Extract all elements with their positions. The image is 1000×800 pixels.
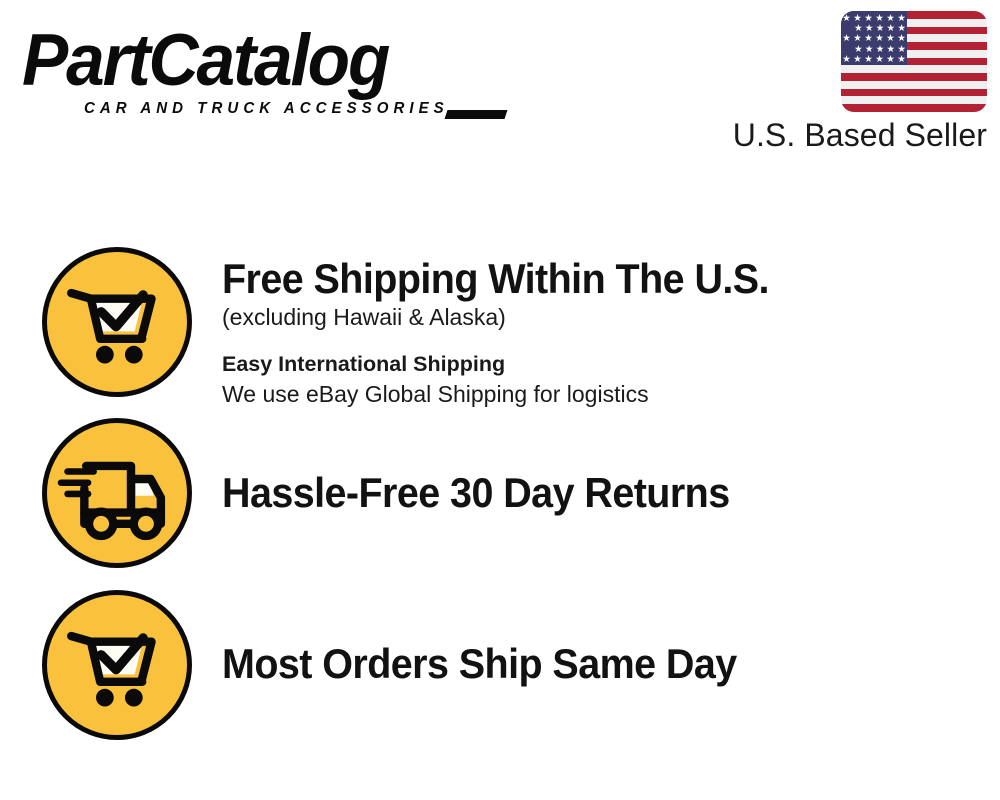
flag-star: ★ [897,55,906,65]
flag-star: ★ [853,55,862,65]
flag-star: ★ [875,34,884,44]
flag-star: ★ [897,34,906,44]
flag-star: ★ [853,14,862,24]
flag-star: ★ [887,24,896,34]
brand-wordmark: PartCatalog [22,24,388,98]
flag-star: ★ [842,55,851,65]
flag-star: ★ [864,14,873,24]
flag-star: ★ [897,14,906,24]
flag-star: ★ [865,24,874,34]
flag-star: ★ [842,14,851,24]
flag-star: ★ [897,45,906,55]
feature-extra-subtitle: We use eBay Global Shipping for logistic… [222,379,982,409]
flag-star: ★ [886,34,895,44]
feature-text-same-day: Most Orders Ship Same Day [222,641,982,687]
logo-swash [445,110,508,119]
flag-star-row: ★ ★ ★ ★ ★ [847,45,913,55]
brand-tagline: CAR AND TRUCK ACCESSORIES [84,100,449,118]
flag-star: ★ [876,45,885,55]
flag-star: ★ [865,45,874,55]
flag-star: ★ [887,45,896,55]
flag-star: ★ [854,45,863,55]
feature-text-free-shipping: Free Shipping Within The U.S. (excluding… [222,256,982,409]
flag-star-row: ★ ★ ★ ★ ★ ★ [841,34,907,44]
flag-star: ★ [886,55,895,65]
flag-star: ★ [875,14,884,24]
flag-star: ★ [864,55,873,65]
banner-header: PartCatalog CAR AND TRUCK ACCESSORIES ★ … [0,0,1000,170]
feature-title: Free Shipping Within The U.S. [222,256,936,302]
feature-title: Hassle-Free 30 Day Returns [222,470,936,516]
flag-star-row: ★ ★ ★ ★ ★ [847,24,913,34]
flag-star: ★ [853,34,862,44]
shopping-cart-check-icon [42,247,192,397]
feature-subtitle: (excluding Hawaii & Alaska) [222,302,982,332]
flag-star: ★ [854,24,863,34]
flag-star: ★ [864,34,873,44]
flag-star: ★ [842,34,851,44]
seller-badge-label: U.S. Based Seller [595,118,987,152]
us-flag-icon: ★ ★ ★ ★ ★ ★ ★ ★ ★ ★ ★ ★ ★ ★ ★ ★ ★ ★ ★ ★ … [841,11,987,112]
feature-extra-title: Easy International Shipping [222,350,982,379]
flag-stripe [841,73,987,81]
flag-star: ★ [886,14,895,24]
flag-star: ★ [875,55,884,65]
delivery-truck-icon [42,418,192,568]
feature-list: Free Shipping Within The U.S. (excluding… [0,170,1000,800]
feature-title: Most Orders Ship Same Day [222,641,936,687]
feature-text-returns: Hassle-Free 30 Day Returns [222,470,982,516]
flag-star-row: ★ ★ ★ ★ ★ ★ [841,55,907,65]
flag-star: ★ [876,24,885,34]
flag-stripe [841,104,987,112]
brand-logo: PartCatalog CAR AND TRUCK ACCESSORIES [22,24,492,116]
flag-star: ★ [897,24,906,34]
flag-star-row: ★ ★ ★ ★ ★ ★ [841,14,907,24]
shopping-cart-check-icon [42,590,192,740]
flag-stripe [841,89,987,97]
